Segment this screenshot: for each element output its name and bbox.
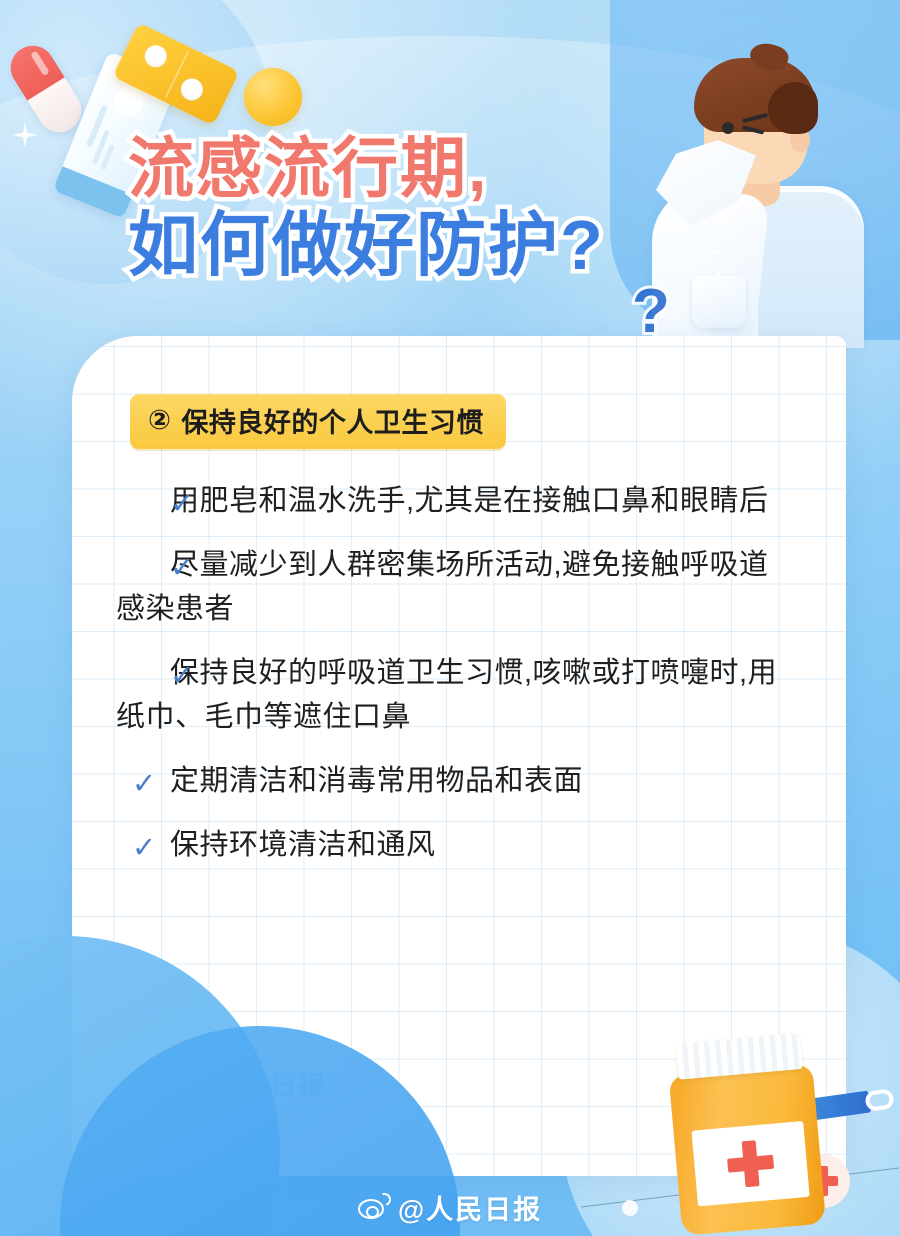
steam-icon (712, 250, 724, 276)
tips-list: ✓ 用肥皂和温水洗手,尤其是在接触口鼻和眼睛后 ✓ 尽量减少到人群密集场所活动,… (116, 479, 802, 868)
list-item-text: 用肥皂和温水洗手,尤其是在接触口鼻和眼睛后 (170, 485, 769, 517)
list-item: ✓ 用肥皂和温水洗手,尤其是在接触口鼻和眼睛后 (116, 479, 802, 523)
list-item: ✓ 保持环境清洁和通风 (116, 823, 802, 867)
weibo-icon[interactable] (358, 1195, 388, 1219)
list-item: ✓ 尽量减少到人群密集场所活动,避免接触呼吸道感染患者 (116, 543, 802, 631)
list-item-text: 保持环境清洁和通风 (170, 829, 436, 861)
footer-bar: @人民日报 (0, 1178, 900, 1236)
decor-orange-circle (244, 68, 302, 126)
cup-icon (692, 276, 746, 328)
poster-root: ? 流感流行期, 如何做好防护? ② 保持良好的个人卫生习惯 ✓ 用肥皂和温水洗… (0, 0, 900, 1236)
person-hair (694, 58, 816, 132)
person-sneezing-illustration: ? (646, 36, 876, 336)
check-icon: ✓ (170, 654, 195, 698)
list-item-text: 定期清洁和消毒常用物品和表面 (170, 765, 583, 797)
poster-title: 流感流行期, 如何做好防护? (128, 132, 605, 284)
footer-handle[interactable]: @人民日报 (398, 1188, 542, 1227)
list-item-text: 尽量减少到人群密集场所活动,避免接触呼吸道感染患者 (116, 549, 769, 625)
person-shirt-shadow (758, 192, 864, 348)
check-icon: ✓ (170, 546, 195, 590)
section-number: ② (148, 405, 171, 436)
title-line-1: 流感流行期, (128, 132, 605, 206)
title-line-2: 如何做好防护? (128, 206, 605, 284)
list-item-text: 保持良好的呼吸道卫生习惯,咳嗽或打喷嚏时,用纸巾、毛巾等遮住口鼻 (116, 657, 777, 733)
list-item: ✓ 定期清洁和消毒常用物品和表面 (116, 759, 802, 803)
section-heading-label: 保持良好的个人卫生习惯 (181, 401, 484, 440)
check-icon: ✓ (132, 762, 157, 806)
list-item: ✓ 保持良好的呼吸道卫生习惯,咳嗽或打喷嚏时,用纸巾、毛巾等遮住口鼻 (116, 651, 802, 739)
check-icon: ✓ (132, 826, 157, 870)
check-icon: ✓ (170, 482, 195, 526)
person-eye (722, 122, 734, 134)
section-heading-badge: ② 保持良好的个人卫生习惯 (130, 394, 506, 449)
